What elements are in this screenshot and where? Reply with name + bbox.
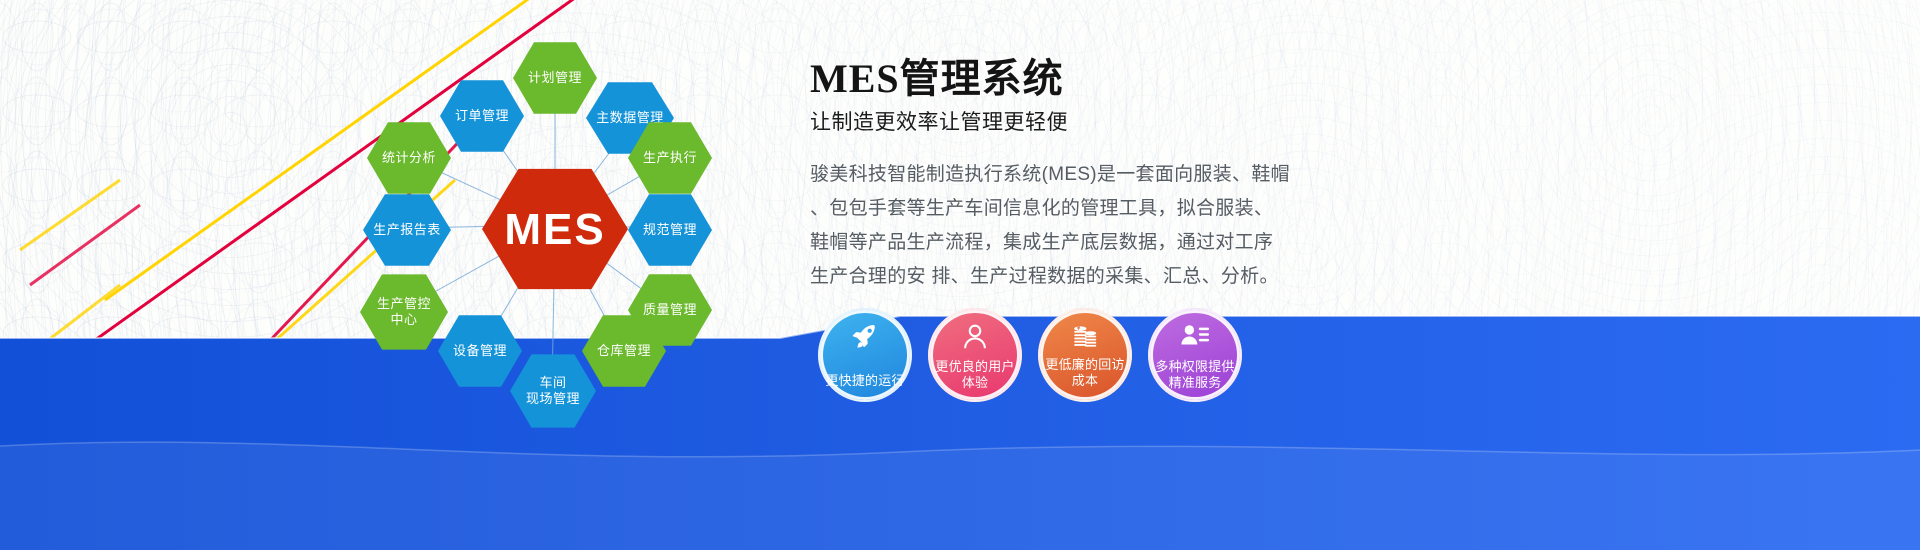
banner-text-column: MES管理系统 让制造更效率让管理更轻便 骏美科技智能制造执行系统(MES)是一… bbox=[810, 58, 1330, 294]
feature-badge-row: 更快捷的运行 更优良的用户 体验 bbox=[818, 308, 1338, 408]
feature-badge-permission[interactable]: 多种权限提供 精准服务 bbox=[1148, 308, 1242, 402]
hex-label: 规范管理 bbox=[643, 222, 697, 238]
description-line: 鞋帽等产品生产流程，集成生产底层数据，通过对工序 bbox=[810, 226, 1280, 260]
hex-label: 质量管理 bbox=[643, 302, 697, 318]
feature-badge-label: 更低廉的回访 成本 bbox=[1042, 357, 1128, 391]
hex-label: 统计分析 bbox=[382, 150, 436, 166]
coins-icon: ¥ bbox=[1040, 322, 1130, 352]
hex-label: 生产管控 中心 bbox=[377, 296, 431, 329]
hex-label: 计划管理 bbox=[528, 70, 582, 86]
page-title: MES管理系统 bbox=[810, 58, 1330, 100]
hex-label: 订单管理 bbox=[455, 108, 509, 124]
feature-badge-cost[interactable]: ¥ 更低廉的回访 成本 bbox=[1038, 308, 1132, 402]
feature-badge-label: 多种权限提供 精准服务 bbox=[1152, 359, 1238, 391]
page-subtitle: 让制造更效率让管理更轻便 bbox=[810, 106, 1330, 136]
feature-badge-label: 更快捷的运行 bbox=[822, 373, 908, 391]
description-paragraph: 骏美科技智能制造执行系统(MES)是一套面向服装、鞋帽 、包包手套等生产车间信息… bbox=[810, 158, 1280, 294]
feature-badge-label: 更优良的用户 体验 bbox=[932, 359, 1018, 391]
permission-icon bbox=[1150, 322, 1240, 352]
hex-label: 生产执行 bbox=[643, 150, 697, 166]
hex-label: 仓库管理 bbox=[597, 343, 651, 359]
feature-badge-speed[interactable]: 更快捷的运行 bbox=[818, 308, 912, 402]
hex-label: 生产报告表 bbox=[373, 222, 441, 238]
description-line: 生产合理的安 排、生产过程数据的采集、汇总、分析。 bbox=[810, 260, 1280, 294]
mes-banner: 计划管理 订单管理 主数据管理 生产执行 统计分析 规范管理 生产报告表 质量管… bbox=[0, 0, 1920, 550]
description-line: 骏美科技智能制造执行系统(MES)是一套面向服装、鞋帽 bbox=[810, 158, 1280, 192]
feature-badge-experience[interactable]: 更优良的用户 体验 bbox=[928, 308, 1022, 402]
rocket-icon bbox=[820, 322, 910, 352]
description-line: 、包包手套等生产车间信息化的管理工具，拟合服装、 bbox=[810, 192, 1280, 226]
hex-label: 设备管理 bbox=[453, 343, 507, 359]
svg-text:¥: ¥ bbox=[1077, 325, 1081, 332]
hex-core-label: MES bbox=[504, 202, 605, 257]
mes-hexagon-diagram: 计划管理 订单管理 主数据管理 生产执行 统计分析 规范管理 生产报告表 质量管… bbox=[330, 10, 770, 430]
user-icon bbox=[930, 322, 1020, 352]
hex-label: 车间 现场管理 bbox=[526, 375, 580, 408]
